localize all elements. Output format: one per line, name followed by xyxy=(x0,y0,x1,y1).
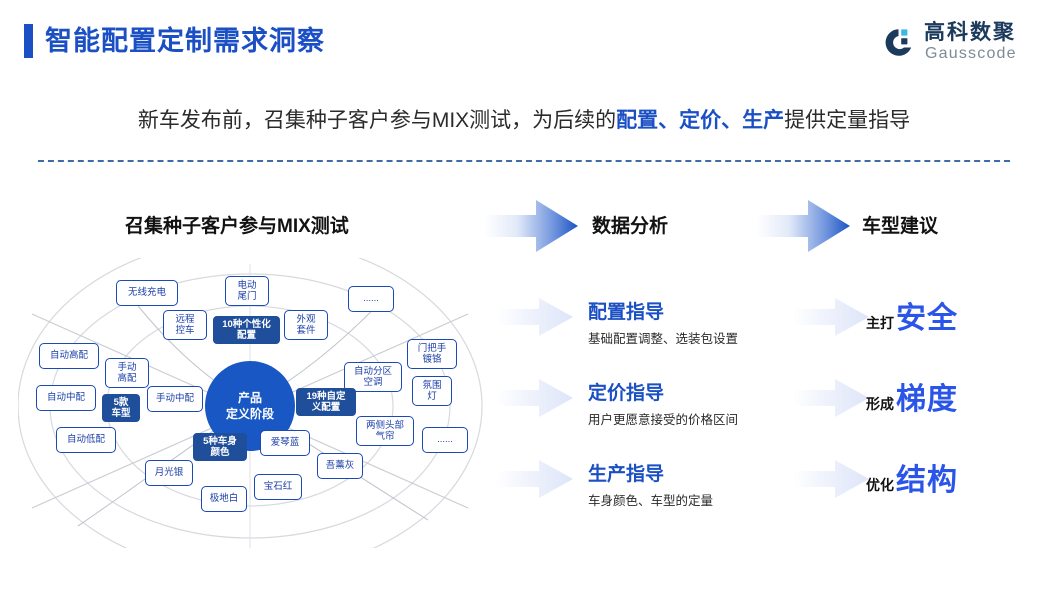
advice-item-tier: 形成 梯度 xyxy=(866,383,958,417)
analysis-item-desc: 用户更愿意接受的价格区间 xyxy=(588,410,738,430)
row-arrow-icon-safety xyxy=(793,296,871,338)
analysis-item-title: 定价指导 xyxy=(588,381,738,407)
analysis-item-pricing: 定价指导 用户更愿意接受的价格区间 xyxy=(588,381,738,430)
page-title: 智能配置定制需求洞察 xyxy=(45,22,325,60)
row-arrow-icon-tier xyxy=(793,377,871,419)
analysis-item-desc: 基础配置调整、选装包设置 xyxy=(588,329,738,349)
brand-logo: 高科数聚 Gausscode xyxy=(882,20,1034,68)
subtitle-highlight: 配置、定价、生产 xyxy=(616,109,784,132)
advice-item-prefix: 主打 xyxy=(866,312,894,334)
mindmap-node[interactable]: 手动 高配 xyxy=(105,358,149,388)
analysis-item-config: 配置指导 基础配置调整、选装包设置 xyxy=(588,300,738,349)
row-arrow-icon-production xyxy=(497,458,575,500)
subtitle-part1: 新车发布前，召集种子客户参与MIX测试，为后续的 xyxy=(138,109,616,132)
mindmap-node[interactable]: 5种车身 颜色 xyxy=(193,433,247,461)
analysis-item-title: 配置指导 xyxy=(588,300,738,326)
subtitle-line: 新车发布前，召集种子客户参与MIX测试，为后续的配置、定价、生产提供定量指导 xyxy=(0,105,1048,137)
analysis-item-production: 生产指导 车身颜色、车型的定量 xyxy=(588,462,713,511)
mindmap-node[interactable]: 远程 控车 xyxy=(163,310,207,340)
title-accent-bar xyxy=(24,24,33,58)
slide-header: 智能配置定制需求洞察 高科数聚 Gausscode xyxy=(0,0,1048,78)
flow-arrow-icon-2 xyxy=(756,198,852,254)
column-head-data-analysis: 数据分析 xyxy=(592,214,668,240)
mindmap-node[interactable]: ...... xyxy=(422,427,468,453)
row-arrow-icon-pricing xyxy=(497,377,575,419)
section-divider xyxy=(38,160,1010,162)
row-arrow-icon-config xyxy=(497,296,575,338)
mindmap-node[interactable]: 自动高配 xyxy=(39,343,99,369)
column-head-model-advice: 车型建议 xyxy=(862,214,938,240)
mindmap-node[interactable]: 爱琴蓝 xyxy=(260,430,310,456)
advice-item-prefix: 形成 xyxy=(866,393,894,415)
mindmap-node[interactable]: 10种个性化 配置 xyxy=(213,316,280,344)
mindmap-node[interactable]: ...... xyxy=(348,286,394,312)
mindmap-node[interactable]: 极地白 xyxy=(201,486,247,512)
mindmap-node[interactable]: 无线充电 xyxy=(116,280,178,306)
subtitle-part2: 提供定量指导 xyxy=(784,109,910,132)
analysis-item-title: 生产指导 xyxy=(588,462,713,488)
analysis-item-desc: 车身颜色、车型的定量 xyxy=(588,491,713,511)
mindmap-node[interactable]: 19种自定 义配置 xyxy=(296,388,356,416)
mindmap-node[interactable]: 自动中配 xyxy=(36,385,96,411)
mindmap-node[interactable]: 5款 车型 xyxy=(102,394,140,422)
gausscode-g-logo-icon xyxy=(882,26,916,60)
mindmap-node[interactable]: 门把手 镀铬 xyxy=(407,339,457,369)
mindmap-diagram: 产品 定义阶段 无线充电 电动 尾门 ...... 远程 控车 10种个性化 配… xyxy=(18,258,498,548)
row-arrow-icon-structure xyxy=(793,458,871,500)
mindmap-node[interactable]: 宝石红 xyxy=(254,474,302,500)
flow-arrow-icon-1 xyxy=(484,198,580,254)
column-head-seed-test: 召集种子客户参与MIX测试 xyxy=(125,214,349,240)
mindmap-node[interactable]: 月光银 xyxy=(145,460,193,486)
advice-item-prefix: 优化 xyxy=(866,474,894,496)
advice-item-safety: 主打 安全 xyxy=(866,302,958,336)
slide-root: 智能配置定制需求洞察 高科数聚 Gausscode 新车发布前，召集种子客户参与… xyxy=(0,0,1048,589)
advice-item-keyword: 安全 xyxy=(896,302,958,336)
mindmap-node[interactable]: 两侧头部 气帘 xyxy=(356,416,414,446)
advice-item-keyword: 梯度 xyxy=(896,383,958,417)
mindmap-node[interactable]: 电动 尾门 xyxy=(225,276,269,306)
mindmap-node[interactable]: 氛围 灯 xyxy=(412,376,452,406)
mindmap-node[interactable]: 吾薰灰 xyxy=(317,453,363,479)
mindmap-node[interactable]: 自动低配 xyxy=(56,427,116,453)
mindmap-node[interactable]: 外观 套件 xyxy=(284,310,328,340)
advice-item-structure: 优化 结构 xyxy=(866,464,958,498)
mindmap-node[interactable]: 手动中配 xyxy=(147,386,203,412)
advice-item-keyword: 结构 xyxy=(896,464,958,498)
logo-en-name: Gausscode xyxy=(925,45,1017,63)
logo-cn-name: 高科数聚 xyxy=(924,21,1016,45)
